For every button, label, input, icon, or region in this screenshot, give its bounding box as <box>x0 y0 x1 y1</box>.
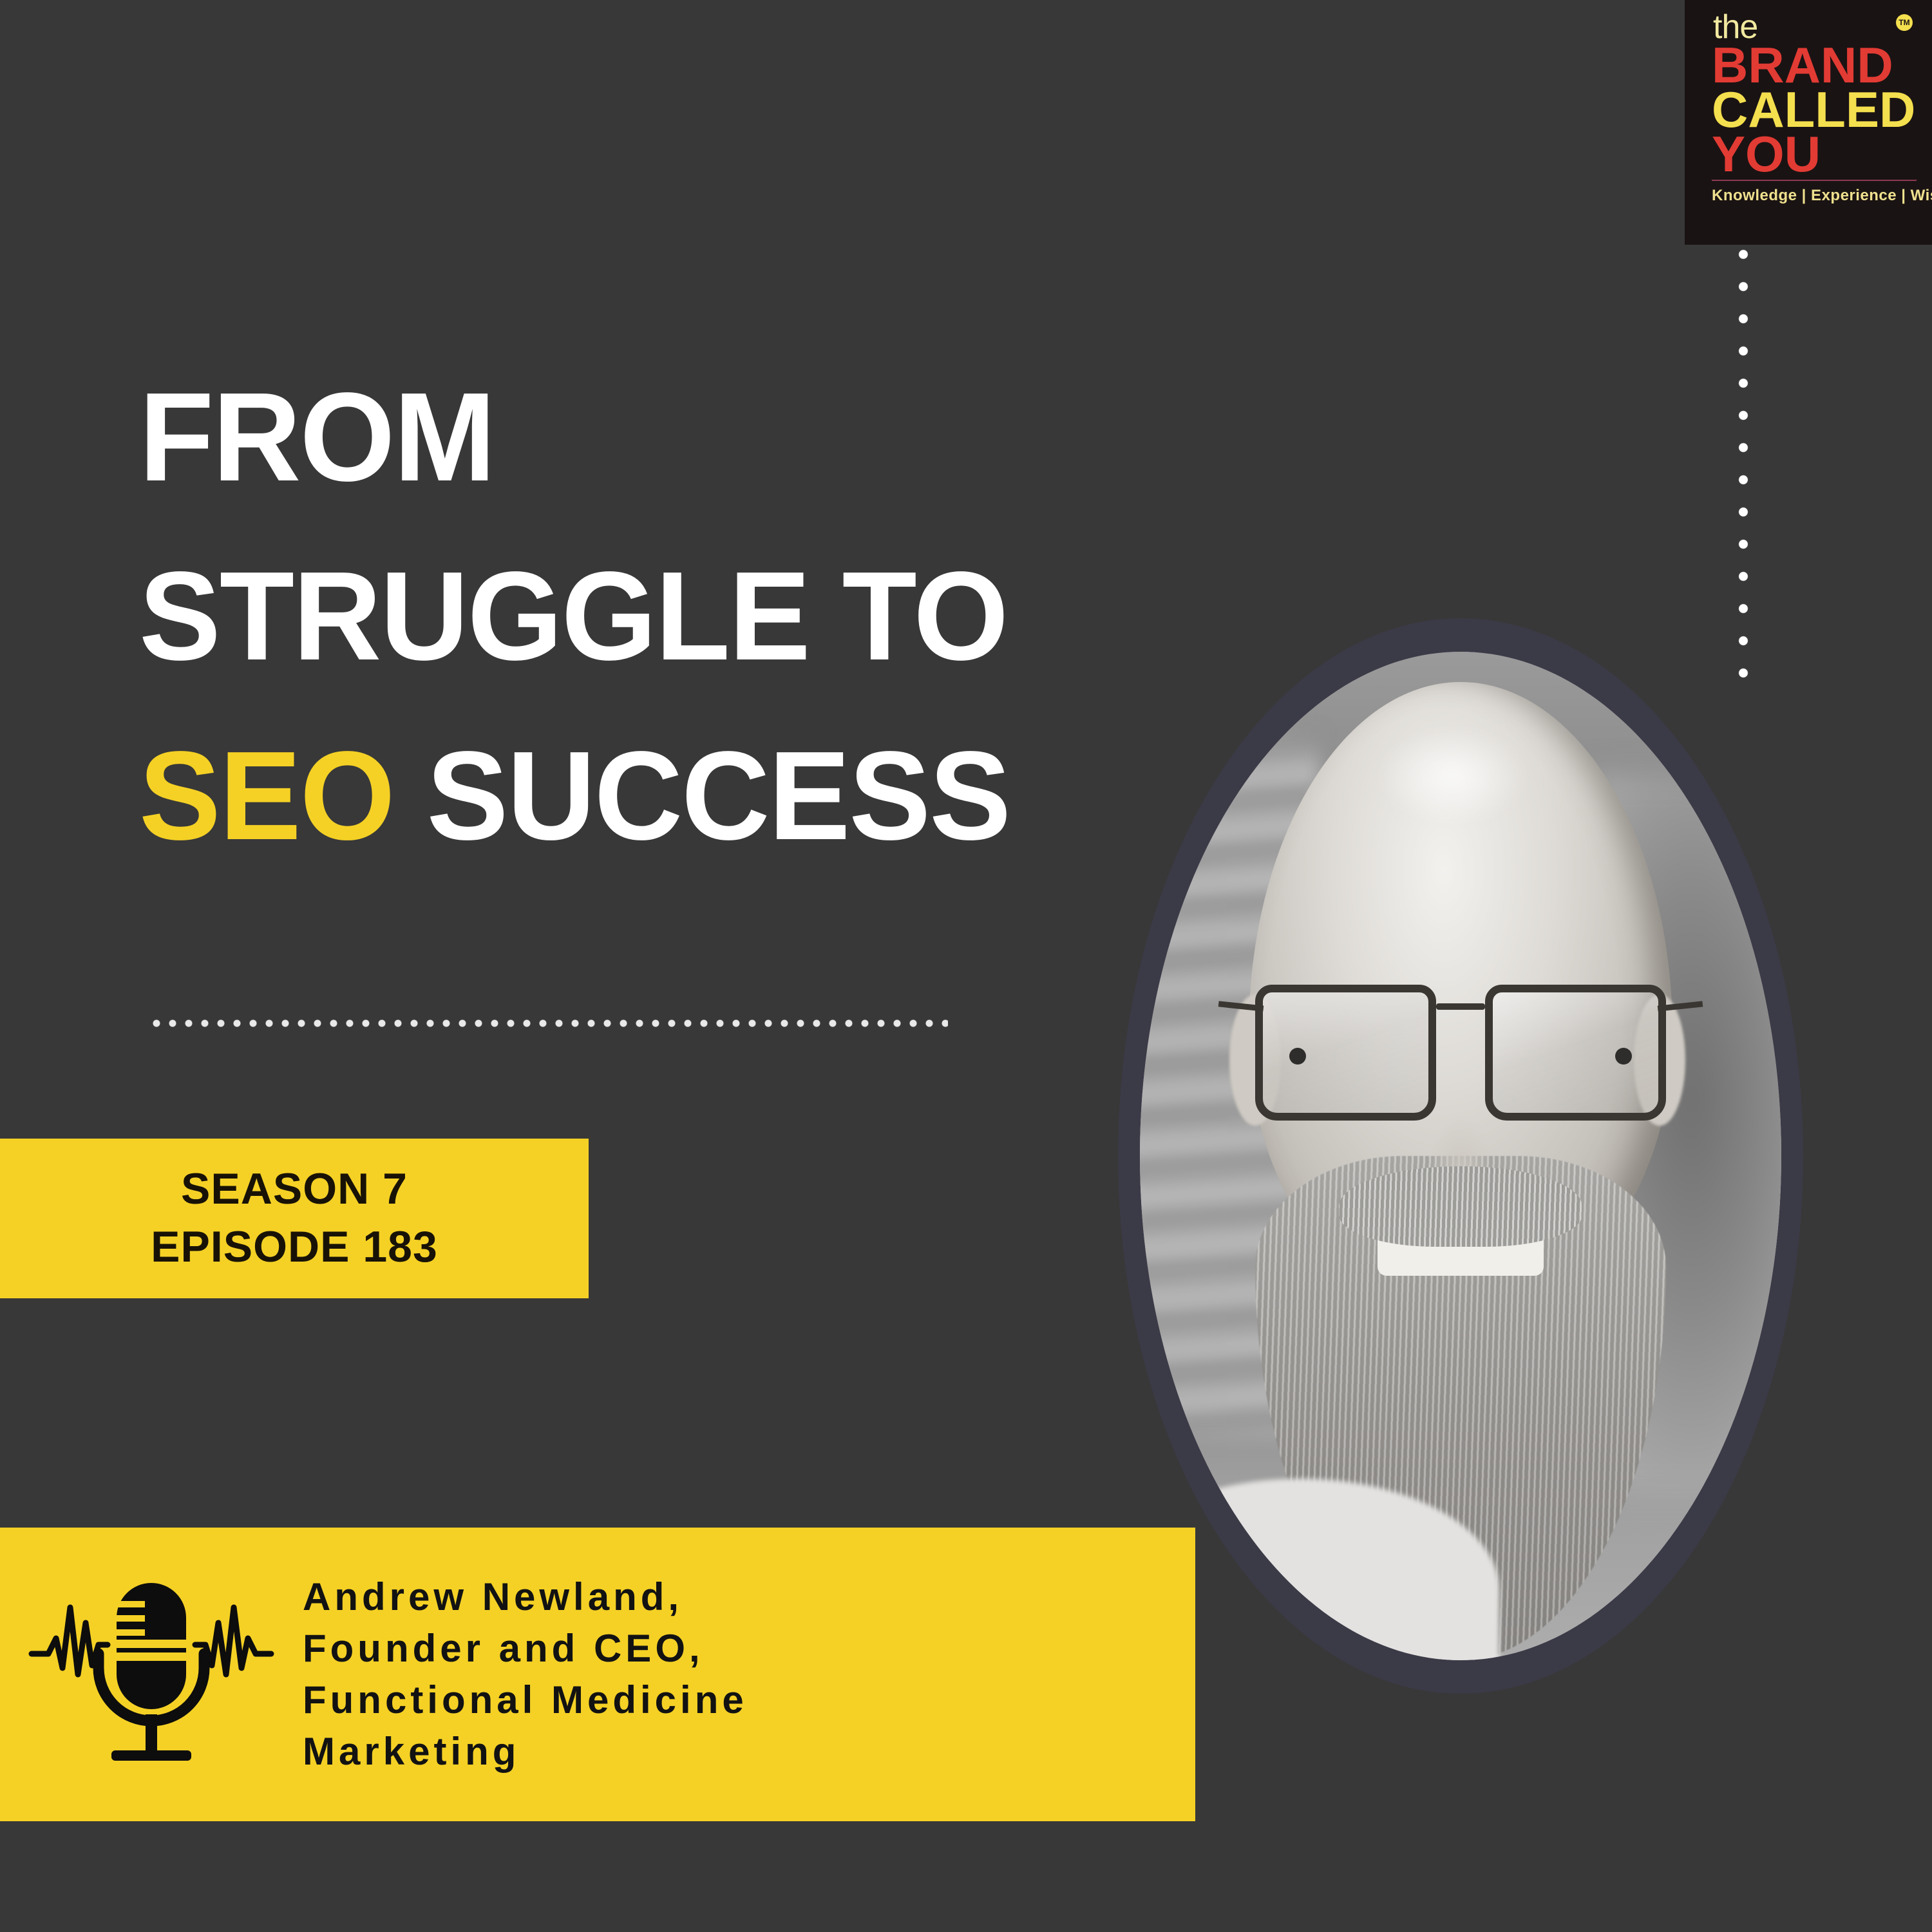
guest-line-3: Functional Medicine <box>303 1674 1176 1726</box>
trademark-icon: TM <box>1896 14 1913 31</box>
glasses-lens-left <box>1255 985 1435 1121</box>
season-label: SEASON 7 <box>181 1160 408 1218</box>
portrait-eye-left <box>1289 1048 1306 1065</box>
guest-name-and-title: Andrew Newland, Founder and CEO, Functio… <box>303 1571 1195 1777</box>
title-line-2: STRUGGLE TO <box>139 527 1264 706</box>
title-line-3-rest: SUCCESS <box>394 725 1010 866</box>
portrait-eye-right <box>1615 1048 1632 1065</box>
title-line-1: FROM <box>139 348 1264 527</box>
microphone-waveform-icon <box>0 1528 303 1821</box>
guest-line-2: Founder and CEO, <box>303 1623 1176 1674</box>
portrait-head-highlight <box>1376 726 1529 826</box>
guest-portrait <box>1118 618 1803 1694</box>
portrait-moustache <box>1339 1166 1582 1247</box>
guest-line-4: Marketing <box>303 1726 1176 1777</box>
glasses-bridge <box>1436 1003 1485 1010</box>
portrait-glasses <box>1255 985 1665 1121</box>
episode-title: FROM STRUGGLE TO SEO SUCCESS <box>139 348 1298 885</box>
logo-divider <box>1712 180 1917 181</box>
title-highlight-seo: SEO <box>139 725 394 866</box>
vertical-dotted-connector <box>1738 249 1749 694</box>
logo-tagline: Knowledge | Experience | Wisdom <box>1712 187 1932 205</box>
guest-info-bar: Andrew Newland, Founder and CEO, Functio… <box>0 1528 1195 1821</box>
podcast-cover: TM the BRAND CALLED YOU Knowledge | Expe… <box>0 0 1932 1932</box>
season-episode-badge: SEASON 7 EPISODE 183 <box>0 1139 589 1298</box>
glasses-lens-right <box>1485 985 1665 1121</box>
guest-line-1: Andrew Newland, <box>303 1571 1176 1623</box>
brand-logo: TM the BRAND CALLED YOU Knowledge | Expe… <box>1685 0 1932 245</box>
horizontal-dotted-rule <box>149 1016 948 1030</box>
logo-word-you: YOU <box>1712 132 1821 176</box>
guest-portrait-image <box>1140 652 1781 1660</box>
title-line-3: SEO SUCCESS <box>139 706 1264 885</box>
episode-label: EPISODE 183 <box>151 1218 438 1276</box>
